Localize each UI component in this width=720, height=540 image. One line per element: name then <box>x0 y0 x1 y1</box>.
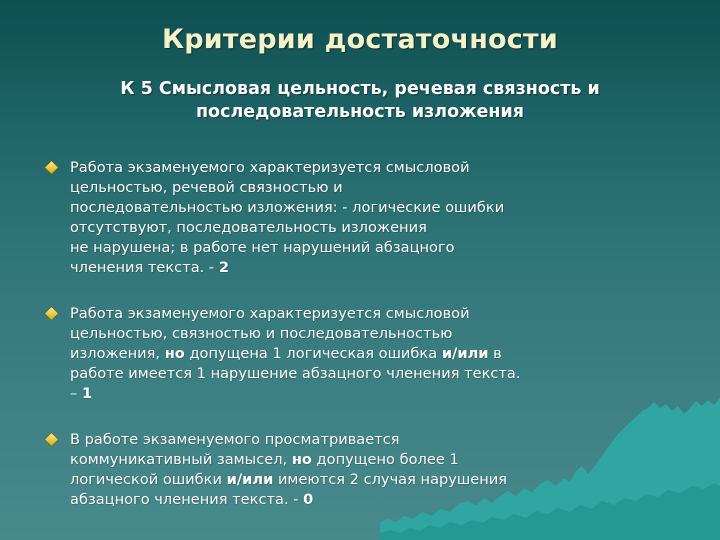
bullet-marker <box>44 304 70 318</box>
criterion-body-2-l2: цельностью, связностью и последовательно… <box>70 325 452 342</box>
diamond-bullet-icon <box>45 433 58 446</box>
criterion-score-1: 2 <box>219 259 229 276</box>
criterion-body-2-l4: работе имеется 1 нарушение абзацного чле… <box>70 365 521 382</box>
slide-title: Критерии достаточности <box>0 24 720 55</box>
emphasis-no: но <box>292 451 312 468</box>
criterion-body-1: Работа экзаменуемого характеризуется смы… <box>70 159 470 176</box>
presentation-slide: Критерии достаточности К 5 Смысловая цел… <box>0 0 720 540</box>
criterion-body-3-l3: логической ошибки и/или имеются 2 случая… <box>70 471 507 488</box>
criterion-body-3-l2: коммуникативный замысел, но допущено бол… <box>70 451 459 468</box>
criterion-body-1-l4: отсутствуют, последовательность изложени… <box>70 219 427 236</box>
slide-subtitle: К 5 Смысловая цельность, речевая связнос… <box>108 78 612 125</box>
criterion-text-score-1: Работа экзаменуемого характеризуется смы… <box>70 304 704 404</box>
diamond-bullet-icon <box>45 307 58 320</box>
list-item: Работа экзаменуемого характеризуется смы… <box>44 304 704 404</box>
criterion-score-2: 1 <box>82 385 92 402</box>
criterion-body-1-l5: не нарушена; в работе нет нарушений абза… <box>70 239 455 256</box>
criterion-body-1-l6: членения текста. - <box>70 259 219 276</box>
list-item: Работа экзаменуемого характеризуется смы… <box>44 158 704 278</box>
emphasis-no: но <box>165 345 185 362</box>
criterion-text-score-0: В работе экзаменуемого просматриваетсяко… <box>70 430 704 510</box>
criteria-bullet-list: Работа экзаменуемого характеризуется смы… <box>44 158 704 531</box>
criterion-text-score-2: Работа экзаменуемого характеризуется смы… <box>70 158 704 278</box>
criterion-body-1-l3: последовательностью изложения: - логичес… <box>70 199 504 216</box>
bullet-marker <box>44 430 70 444</box>
criterion-body-2-l3: изложения, но допущена 1 логическая ошиб… <box>70 345 502 362</box>
list-item: В работе экзаменуемого просматриваетсяко… <box>44 430 704 510</box>
criterion-body-2-l5: – <box>70 385 82 402</box>
diamond-bullet-icon <box>45 161 58 174</box>
criterion-body-3-l1: В работе экзаменуемого просматривается <box>70 431 400 448</box>
criterion-body-1-l2: цельностью, речевой связностью и <box>70 179 343 196</box>
emphasis-ili: и/или <box>442 345 489 362</box>
criterion-score-3: 0 <box>303 491 313 508</box>
bullet-marker <box>44 158 70 172</box>
criterion-body-2-l1: Работа экзаменуемого характеризуется смы… <box>70 305 470 322</box>
emphasis-ili: и/или <box>227 471 274 488</box>
criterion-body-3-l4: абзацного членения текста. - <box>70 491 303 508</box>
